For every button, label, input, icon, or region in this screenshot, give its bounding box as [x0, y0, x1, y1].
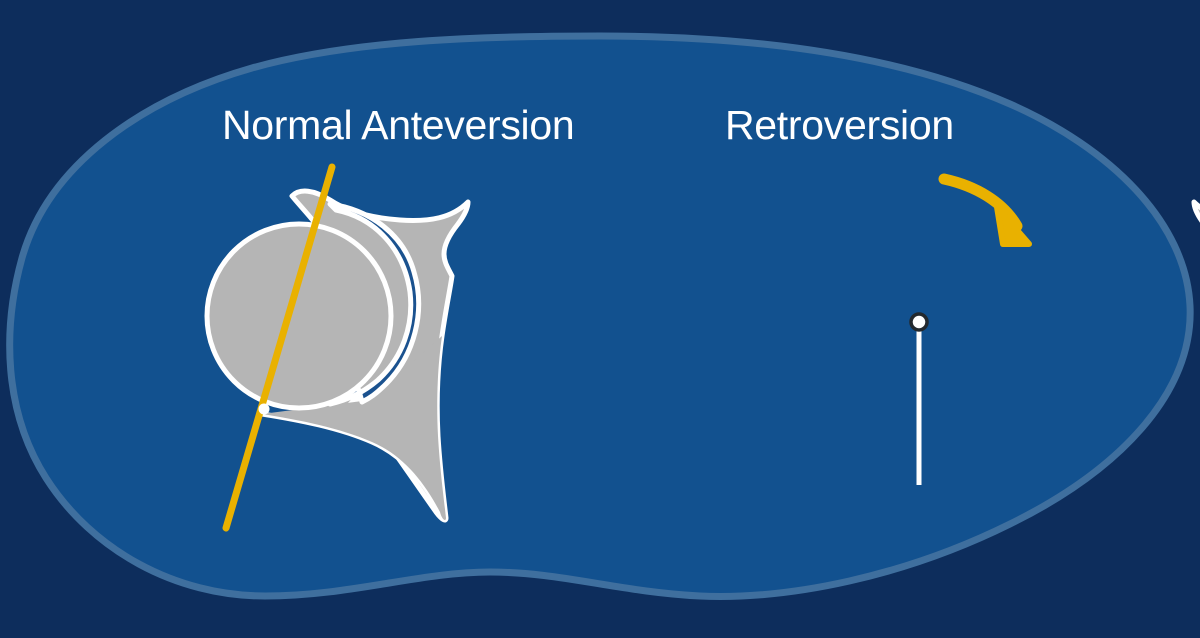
panel-title-retroversion: Retroversion — [725, 105, 954, 146]
center-point-marker-ring — [911, 314, 927, 330]
right-panel-anatomy — [0, 0, 1200, 638]
panel-title-normal-anteversion: Normal Anteversion — [222, 105, 574, 146]
scapula-group-right — [1194, 191, 1200, 520]
rotation-arrow — [944, 179, 1029, 244]
mirrored-anatomy-group — [1194, 191, 1200, 520]
scapula-body — [1194, 191, 1200, 520]
illustration-canvas: Normal Anteversion Retroversion — [0, 0, 1200, 638]
